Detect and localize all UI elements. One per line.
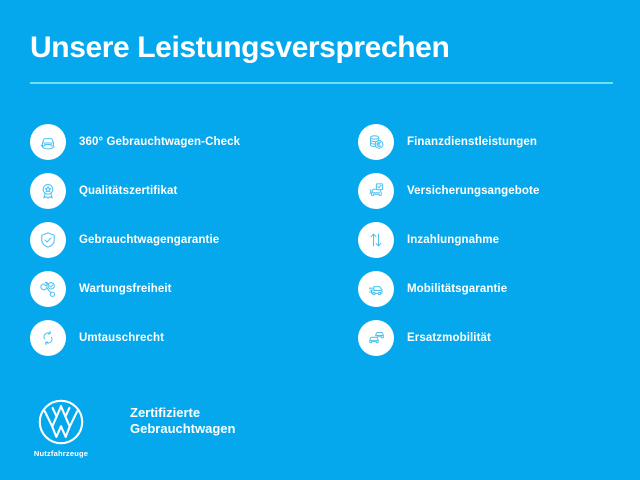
feature-label: Versicherungsangebote [407,185,539,197]
car-document-check-icon [358,173,394,209]
feature-item-umtauschrecht[interactable]: Umtauschrecht [30,320,330,356]
page-title: Unsere Leistungsversprechen [30,30,614,66]
feature-column-left: 360° Gebrauchtwagen-Check Qualitätszerti… [30,124,330,369]
vw-subbrand-label: Nutzfahrzeuge [34,449,88,458]
up-down-arrows-icon [358,222,394,258]
volkswagen-logo-icon [37,398,85,446]
feature-item-wartungsfreiheit[interactable]: Wartungsfreiheit [30,271,330,307]
coins-euro-icon [358,124,394,160]
feature-label: 360° Gebrauchtwagen-Check [79,136,240,148]
feature-label: Qualitätszertifikat [79,185,177,197]
feature-item-gebrauchtwagen-check[interactable]: 360° Gebrauchtwagen-Check [30,124,330,160]
brand-block: Nutzfahrzeuge Zertifizierte Gebrauchtwag… [30,398,235,458]
car-360-check-icon [30,124,66,160]
feature-label: Wartungsfreiheit [79,283,172,295]
feature-item-inzahlungnahme[interactable]: Inzahlungnahme [358,222,628,258]
feature-column-right: Finanzdienstleistungen Versicherungsange… [358,124,628,369]
feature-item-gebrauchtwagengarantie[interactable]: Gebrauchtwagengarantie [30,222,330,258]
feature-item-ersatzmobilitaet[interactable]: Ersatzmobilität [358,320,628,356]
brand-claim: Zertifizierte Gebrauchtwagen [130,405,235,437]
slide-root: Unsere Leistungsversprechen 360° Gebrauc [0,0,640,480]
feature-label: Finanzdienstleistungen [407,136,537,148]
feature-label: Inzahlungnahme [407,234,499,246]
two-cars-icon [358,320,394,356]
tow-van-icon [358,271,394,307]
header: Unsere Leistungsversprechen [30,30,614,84]
exchange-arrows-icon [30,320,66,356]
feature-item-finanzdienstleistungen[interactable]: Finanzdienstleistungen [358,124,628,160]
brand-claim-line1: Zertifizierte [130,405,235,421]
feature-label: Ersatzmobilität [407,332,491,344]
title-divider [30,82,613,84]
feature-item-qualitaetszertifikat[interactable]: Qualitätszertifikat [30,173,330,209]
brand-claim-line2: Gebrauchtwagen [130,421,235,437]
feature-item-versicherungsangebote[interactable]: Versicherungsangebote [358,173,628,209]
features-grid: 360° Gebrauchtwagen-Check Qualitätszerti… [0,124,640,369]
quality-seal-icon [30,173,66,209]
feature-item-mobilitaetsgarantie[interactable]: Mobilitätsgarantie [358,271,628,307]
shield-check-icon [30,222,66,258]
feature-label: Gebrauchtwagengarantie [79,234,219,246]
feature-label: Mobilitätsgarantie [407,283,507,295]
wrench-check-icon [30,271,66,307]
vw-logo-group: Nutzfahrzeuge [30,398,92,458]
feature-label: Umtauschrecht [79,332,164,344]
